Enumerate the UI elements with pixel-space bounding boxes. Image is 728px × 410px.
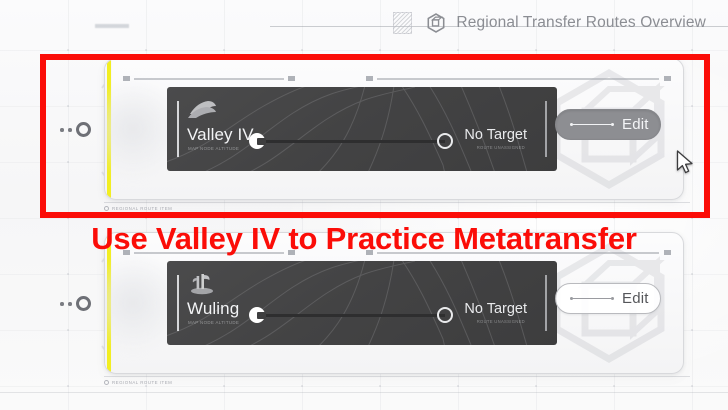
connector-dot bbox=[68, 128, 72, 132]
connector-ring-node bbox=[76, 296, 91, 311]
ruler-block bbox=[664, 250, 671, 255]
ruler-block bbox=[123, 250, 130, 255]
dash-cap bbox=[611, 123, 614, 126]
edit-button-label: Edit bbox=[622, 290, 649, 307]
source-node-marker bbox=[249, 133, 265, 149]
ruler-segment bbox=[377, 78, 659, 80]
connector-ring-node bbox=[76, 122, 91, 137]
card-footer-rule bbox=[104, 202, 690, 203]
top-header-bar: Regional Transfer Routes Overview bbox=[0, 0, 728, 46]
connector-dot bbox=[60, 128, 64, 132]
panel-left-bar bbox=[177, 101, 179, 157]
edit-dash-icon bbox=[570, 121, 614, 129]
page-title: Regional Transfer Routes Overview bbox=[456, 14, 706, 32]
connector-dot bbox=[68, 302, 72, 306]
target-node-label: No Target bbox=[464, 301, 527, 317]
route-line bbox=[257, 140, 445, 143]
ruler-block bbox=[123, 76, 130, 81]
edit-dash-icon bbox=[570, 295, 614, 303]
footer-badge-icon bbox=[104, 380, 109, 385]
dash-bar bbox=[573, 124, 611, 126]
dash-bar bbox=[573, 298, 611, 300]
target-node-marker bbox=[437, 133, 453, 149]
row-connector-left bbox=[46, 120, 108, 140]
header-title-group: Regional Transfer Routes Overview bbox=[393, 12, 706, 34]
card-ruler-ticks bbox=[123, 250, 671, 255]
hexagon-box-icon bbox=[425, 12, 447, 34]
source-node-subtitle: MAP NODE ALTITUDE bbox=[188, 146, 239, 151]
tree-icon bbox=[187, 271, 217, 295]
source-node-label: Wuling bbox=[187, 299, 239, 319]
card-footer-text: REGIONAL ROUTE ITEM bbox=[112, 206, 172, 211]
ruler-block bbox=[366, 250, 373, 255]
panel-left-bar bbox=[177, 275, 179, 331]
panel-right-bar bbox=[545, 275, 547, 331]
card-ruler-ticks bbox=[123, 76, 671, 81]
target-node-subtitle: ROUTE UNASSIGNED bbox=[477, 145, 525, 150]
card-footer-rule bbox=[104, 376, 690, 377]
background-rule-bottom bbox=[0, 392, 728, 393]
route-row-valley-iv: Valley IV MAP NODE ALTITUDE No Target RO… bbox=[46, 58, 682, 198]
header-microtext-block bbox=[95, 24, 129, 28]
source-node-label: Valley IV bbox=[187, 125, 254, 145]
app-screen: Regional Transfer Routes Overview bbox=[0, 0, 728, 410]
panel-right-bar bbox=[545, 101, 547, 157]
mountain-icon bbox=[187, 97, 217, 121]
ruler-segment bbox=[134, 78, 284, 80]
route-card[interactable]: Wuling MAP NODE ALTITUDE No Target ROUTE… bbox=[104, 232, 684, 374]
route-card[interactable]: Valley IV MAP NODE ALTITUDE No Target RO… bbox=[104, 58, 684, 200]
ruler-block bbox=[288, 250, 295, 255]
ruler-segment bbox=[134, 252, 284, 254]
ruler-block bbox=[366, 76, 373, 81]
ruler-segment bbox=[377, 252, 659, 254]
source-node-marker bbox=[249, 307, 265, 323]
hatch-tile-icon bbox=[393, 12, 412, 34]
source-node-subtitle: MAP NODE ALTITUDE bbox=[188, 320, 239, 325]
row-connector-left bbox=[46, 294, 108, 314]
route-line-group bbox=[249, 133, 453, 149]
connector-dot bbox=[60, 302, 64, 306]
edit-button[interactable]: Edit bbox=[555, 109, 661, 140]
route-row-wuling: Wuling MAP NODE ALTITUDE No Target ROUTE… bbox=[46, 232, 682, 372]
edit-button[interactable]: Edit bbox=[555, 283, 661, 314]
card-footer-text: REGIONAL ROUTE ITEM bbox=[112, 380, 172, 385]
card-footer: REGIONAL ROUTE ITEM bbox=[104, 380, 172, 385]
dash-cap bbox=[611, 297, 614, 300]
card-footer: REGIONAL ROUTE ITEM bbox=[104, 206, 172, 211]
target-node-label: No Target bbox=[464, 127, 527, 143]
route-line bbox=[257, 314, 445, 317]
route-panel: Wuling MAP NODE ALTITUDE No Target ROUTE… bbox=[167, 261, 557, 345]
ruler-block bbox=[288, 76, 295, 81]
route-line-group bbox=[249, 307, 453, 323]
route-panel: Valley IV MAP NODE ALTITUDE No Target RO… bbox=[167, 87, 557, 171]
target-node-marker bbox=[437, 307, 453, 323]
footer-badge-icon bbox=[104, 206, 109, 211]
target-node-subtitle: ROUTE UNASSIGNED bbox=[477, 319, 525, 324]
edit-button-label: Edit bbox=[622, 116, 649, 133]
ruler-block bbox=[664, 76, 671, 81]
